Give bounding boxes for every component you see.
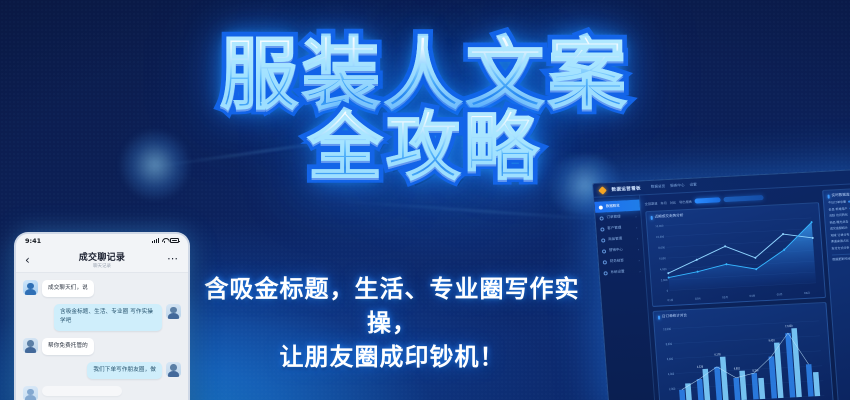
sidebar-item-label: 财务结算 [610, 258, 624, 264]
avatar [23, 280, 38, 295]
svg-text:6,000: 6,000 [659, 256, 666, 261]
phone-status-bar: 9:41 [16, 234, 188, 247]
chevron-right-icon: › [635, 214, 636, 218]
chat-bubble: 含吸金标题、生活、专业圈 写作实操学吧 [54, 304, 162, 330]
avatar [166, 362, 181, 377]
dashboard-mockup: 数据运营看板 数据总览 报表中心 设置 数据概览 订单管理 [592, 167, 850, 400]
sidebar-item-label: 订单管理 [606, 215, 620, 221]
dashboard-window: 数据运营看板 数据总览 报表中心 设置 数据概览 订单管理 [592, 167, 850, 400]
chevron-right-icon: › [636, 225, 637, 229]
dashboard-brand: 数据运营看板 [611, 185, 641, 193]
sidebar-item-label: 商品管理 [608, 236, 622, 242]
svg-text:9,420: 9,420 [768, 338, 775, 343]
chat-bubble: 帮你免费托管的 [42, 338, 94, 355]
chat-message-partial [23, 386, 181, 400]
dashboard-body: 数据概览 订单管理 › 客户管理 › 商品管理 [594, 182, 850, 400]
avatar [166, 304, 181, 319]
svg-text:6,802: 6,802 [734, 366, 741, 371]
svg-text:6,178: 6,178 [714, 352, 721, 357]
phone-nav-title: 成交聊记录 [16, 250, 188, 263]
x-tick-label: 05月 [777, 292, 783, 296]
svg-text:10,000: 10,000 [663, 327, 671, 332]
x-tick-label: 03月 [722, 295, 728, 299]
svg-text:2,000: 2,000 [669, 386, 676, 391]
realtime-panel-rows: 今日订单总量会员 新增用户活跃 访问转化商品 曝光点击成交金额统计地域 订单分布… [828, 198, 850, 253]
phone-nav-title-box: 成交聊记录 聊天记录 [16, 250, 188, 270]
top-nav-item[interactable]: 设置 [689, 183, 697, 188]
diamond-logo-icon [598, 186, 606, 194]
dashboard-main-column: 全部渠道 本月 对比 导出报表 近期成交走势分析 02,0004,0006,00… [644, 190, 834, 400]
panel-row: 会员 新增用户 [828, 204, 850, 211]
chat-message: 我们下单写作朋友圈，做 [23, 362, 181, 379]
phone-nav-subtitle: 聊天记录 [16, 263, 188, 269]
svg-text:4,328: 4,328 [697, 364, 704, 369]
sidebar-item-label: 营销中心 [609, 247, 623, 253]
panel-footer: 数据更新时间 今日 [832, 255, 850, 262]
svg-text:12,000: 12,000 [655, 224, 664, 229]
svg-text:8,000: 8,000 [658, 245, 665, 250]
panel-footer-label: 数据更新时间 今日 [832, 256, 850, 261]
panel-row-label: 支付方式分析 [831, 245, 849, 250]
sidebar-item-label: 数据概览 [606, 204, 620, 210]
sidebar-item-label: 系统设置 [610, 269, 624, 275]
filter-channel[interactable]: 全部渠道 [644, 200, 657, 206]
svg-text:17,620: 17,620 [785, 323, 793, 328]
panel-row: 渠道来源占比 [831, 237, 850, 244]
sidebar-item-label: 客户管理 [607, 226, 621, 232]
filter-compare[interactable]: 对比 [670, 199, 677, 204]
chat-bubble [42, 386, 122, 396]
x-tick-label: 06月 [804, 291, 810, 295]
circle-icon [602, 249, 606, 253]
chat-bubble: 我们下单写作朋友圈，做 [87, 362, 162, 379]
panel-row: 活跃 访问转化 [829, 211, 850, 218]
svg-text:2,000: 2,000 [661, 278, 668, 283]
avatar [23, 338, 38, 353]
filter-month[interactable]: 本月 [660, 200, 667, 205]
svg-text:0: 0 [667, 289, 669, 293]
panel-row-label: 今日订单总量 [828, 200, 846, 205]
svg-text:4,000: 4,000 [668, 371, 675, 376]
status-icons [152, 238, 179, 243]
chat-message: 帮你免费托管的 [23, 338, 181, 355]
circle-icon [601, 238, 605, 242]
svg-text:8,256: 8,256 [752, 368, 759, 373]
top-nav-item[interactable]: 数据总览 [651, 184, 666, 190]
battery-icon [170, 238, 179, 243]
circle-icon [603, 260, 607, 264]
svg-text:4,000: 4,000 [660, 267, 667, 272]
panel-row-label: 渠道来源占比 [831, 239, 849, 244]
panel-row-label: 活跃 访问转化 [829, 213, 848, 218]
x-tick-label: 04月 [749, 294, 755, 298]
x-tick-label: 02月 [695, 296, 701, 300]
avatar [23, 386, 38, 400]
panel-row: 地域 订单分布 [830, 230, 850, 237]
line-chart-plot: 02,0004,0006,0008,00010,00012,000 [651, 213, 820, 297]
phone-mockup: 9:41 ‹ 成交聊记录 聊天记录 ⋯ 成交聊天们，说 含吸金标题、生活、专业圈 [14, 232, 190, 400]
signal-bars-icon [152, 238, 159, 243]
poster-canvas: 服装人文案 服装人文案 全攻略 全攻略 含吸金标题，生活、专业圈写作实操， 让朋… [0, 0, 850, 400]
chat-message: 成交聊天们，说 [23, 280, 181, 297]
chevron-right-icon: › [638, 247, 639, 251]
panel-row-label: 会员 新增用户 [828, 206, 847, 211]
svg-text:6,000: 6,000 [667, 356, 674, 361]
line-chart-card: 近期成交走势分析 02,0004,0006,0008,00010,00012,0… [645, 202, 826, 307]
panel-row: 支付方式分析 [831, 243, 850, 250]
filter-pill[interactable] [724, 195, 764, 202]
chat-thread[interactable]: 成交聊天们，说 含吸金标题、生活、专业圈 写作实操学吧 帮你免费托管的 我们下单… [16, 273, 188, 400]
circle-icon [603, 271, 607, 275]
status-time: 9:41 [25, 237, 41, 245]
panel-row-label: 成交金额统计 [830, 226, 848, 231]
sidebar-item-settings[interactable]: 系统设置 › [599, 265, 645, 278]
circle-icon [599, 216, 603, 220]
chat-bubble: 成交聊天们，说 [42, 280, 94, 297]
circle-icon [600, 227, 604, 231]
x-tick-label: 01月 [667, 298, 673, 302]
panel-row: 成交金额统计 [830, 224, 850, 231]
grid-icon [599, 205, 603, 209]
bar-chart-plot: 02,0004,0006,0008,00010,0004,3286,1786,8… [658, 313, 828, 400]
filter-export[interactable]: 导出报表 [679, 198, 692, 204]
panel-row: 今日订单总量 [828, 198, 850, 205]
dashboard-content: 全部渠道 本月 对比 导出报表 近期成交走势分析 02,0004,0006,00… [640, 182, 850, 400]
svg-text:8,000: 8,000 [666, 342, 673, 347]
realtime-panel-title: 实时数据监控 [827, 191, 850, 199]
chevron-right-icon: › [637, 236, 638, 240]
filter-pill-active[interactable] [695, 197, 721, 203]
panel-row-label: 地域 订单分布 [830, 232, 849, 237]
chevron-right-icon: › [638, 258, 639, 262]
top-nav-item[interactable]: 报表中心 [670, 183, 685, 189]
panel-row: 商品 曝光点击 [829, 217, 850, 224]
wifi-icon [162, 238, 168, 243]
bar-chart-card: 日订单统计对比 02,0004,0006,0008,00010,0004,328… [653, 302, 834, 400]
phone-nav-bar: ‹ 成交聊记录 聊天记录 ⋯ [16, 247, 188, 273]
panel-row-label: 商品 曝光点击 [829, 219, 848, 224]
chevron-right-icon: › [639, 269, 640, 273]
svg-text:10,000: 10,000 [656, 234, 665, 239]
chat-message: 含吸金标题、生活、专业圈 写作实操学吧 [23, 304, 181, 330]
dashboard-top-nav[interactable]: 数据总览 报表中心 设置 [651, 183, 697, 190]
